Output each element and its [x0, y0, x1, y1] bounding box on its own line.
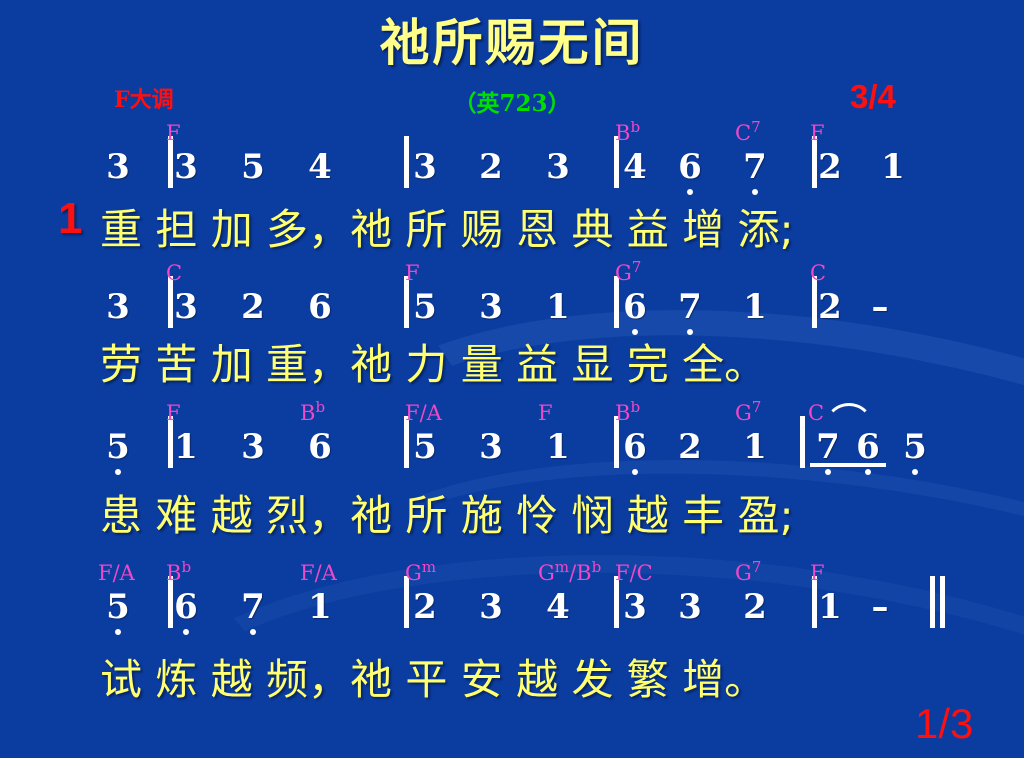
key-signature-label: F大调	[114, 82, 174, 114]
note: 2	[479, 150, 503, 184]
note: 6	[308, 290, 332, 324]
note: 1	[174, 430, 198, 464]
chord-symbol: F/A	[98, 563, 135, 584]
final-double-barline	[930, 576, 946, 628]
note-cell: 1	[877, 150, 909, 184]
note: 4	[546, 590, 570, 624]
note-cell: 2	[475, 150, 507, 184]
music-stave-2: 3C326F531G7671C2–	[0, 252, 1024, 324]
note: 5	[106, 430, 130, 464]
chord-symbol: F	[538, 403, 553, 424]
note: 2	[413, 590, 437, 624]
note-cell: 6	[674, 150, 706, 184]
lyric-text: 劳 苦 加 重，祂 力 量 益 显 完 全。	[100, 331, 766, 392]
note: 2	[241, 290, 265, 324]
lyric-text: 试 炼 越 频，祂 平 安 越 发 繁 增。	[100, 646, 766, 707]
chord-symbol: F/C	[615, 563, 653, 584]
note: 3	[174, 150, 198, 184]
note: 3	[106, 290, 130, 324]
note: 3	[479, 290, 503, 324]
chord-symbol: Bb	[615, 397, 640, 424]
note: 1	[881, 150, 905, 184]
beam	[810, 463, 886, 467]
barline	[800, 416, 805, 468]
note: 6	[678, 150, 702, 184]
note: 5	[413, 430, 437, 464]
note-cell: 3	[409, 150, 441, 184]
note: 3	[546, 150, 570, 184]
note: 1	[308, 590, 332, 624]
note-cell: G72	[739, 590, 771, 624]
chord-symbol: C7	[735, 117, 761, 144]
note-cell: 5	[237, 150, 269, 184]
note: 3	[413, 150, 437, 184]
note-cell: Gm/Bb4	[542, 590, 574, 624]
note-cell: –	[864, 290, 896, 324]
note: 6	[623, 290, 647, 324]
note-cell: Bb6	[170, 590, 202, 624]
chord-symbol: F/A	[300, 563, 337, 584]
note-cell: 1	[739, 290, 771, 324]
chord-symbol: F/A	[405, 403, 442, 424]
note-cell: 1	[542, 290, 574, 324]
chord-symbol: C	[808, 403, 824, 424]
note: 5	[903, 430, 927, 464]
note: 6	[308, 430, 332, 464]
note: 5	[413, 290, 437, 324]
note-cell: F5	[409, 290, 441, 324]
note-cell: C2	[814, 290, 846, 324]
note-cell: F/A5	[409, 430, 441, 464]
note: 1	[818, 590, 842, 624]
note-cell: F1	[542, 430, 574, 464]
note-cell: F1	[814, 590, 846, 624]
note-cell: 5	[102, 430, 134, 464]
note: 1	[743, 430, 767, 464]
note: 1	[546, 290, 570, 324]
chord-symbol: F	[405, 263, 420, 284]
beam-group	[810, 458, 886, 464]
music-stave-1: 3F354323Bb46C77F21	[0, 112, 1024, 184]
note: 3	[174, 290, 198, 324]
verse-number: 1	[58, 194, 82, 244]
note-cell: G71	[739, 430, 771, 464]
note-cell: F1	[170, 430, 202, 464]
chord-symbol: Bb	[166, 557, 191, 584]
note: –	[872, 590, 889, 624]
note-cell: 7	[674, 290, 706, 324]
note: 6	[174, 590, 198, 624]
page-indicator: 1/3	[915, 700, 973, 748]
note: 7	[743, 150, 767, 184]
note: 7	[678, 290, 702, 324]
note-cell: F3	[170, 150, 202, 184]
note-cell: 3	[102, 290, 134, 324]
note-cell: 4	[304, 150, 336, 184]
chord-symbol: Gm	[405, 557, 436, 584]
chord-symbol: G7	[735, 557, 761, 584]
chord-symbol: G7	[735, 397, 761, 424]
note-cell: C77	[739, 150, 771, 184]
note: 2	[743, 590, 767, 624]
note: 7	[241, 590, 265, 624]
note: 5	[241, 150, 265, 184]
note-cell: F/A5	[102, 590, 134, 624]
note: 3	[623, 590, 647, 624]
note: 3	[479, 590, 503, 624]
note: –	[872, 290, 889, 324]
chord-symbol: Gm/Bb	[538, 557, 601, 584]
note: 6	[623, 430, 647, 464]
note: 2	[818, 290, 842, 324]
note: 1	[743, 290, 767, 324]
note-cell: Bb4	[619, 150, 651, 184]
note: 3	[241, 430, 265, 464]
note: 2	[818, 150, 842, 184]
chord-symbol: C	[810, 263, 826, 284]
slur	[824, 403, 874, 428]
note-cell: C3	[170, 290, 202, 324]
note: 3	[479, 430, 503, 464]
note-cell: F/A1	[304, 590, 336, 624]
note-cell: 3	[475, 290, 507, 324]
hymn-title: 祂所赐无间	[0, 18, 1024, 68]
music-stave-4: F/A5Bb67F/A1Gm23Gm/Bb4F/C33G72F1–	[0, 552, 1024, 624]
note: 2	[678, 430, 702, 464]
note-cell: 6	[304, 290, 336, 324]
note-cell: Bb6	[619, 430, 651, 464]
chord-symbol: F	[166, 123, 181, 144]
note: 4	[623, 150, 647, 184]
chord-symbol: F	[166, 403, 181, 424]
note-cell: Gm2	[409, 590, 441, 624]
note-cell: 3	[237, 430, 269, 464]
note-cell: 3	[102, 150, 134, 184]
note-cell: 7	[237, 590, 269, 624]
note-cell: 3	[475, 590, 507, 624]
music-stave-3: 5F13Bb6F/A53F1Bb62G71C765	[0, 392, 1024, 464]
note: 1	[546, 430, 570, 464]
chord-symbol: Bb	[615, 117, 640, 144]
lyric-text: 患 难 越 烈，祂 所 施 怜 悯 越 丰 盈;	[100, 482, 794, 543]
note: 5	[106, 590, 130, 624]
note-cell: 2	[674, 430, 706, 464]
note-cell: 3	[475, 430, 507, 464]
note-cell: G76	[619, 290, 651, 324]
note: 3	[678, 590, 702, 624]
note: 4	[308, 150, 332, 184]
note-cell: 3	[542, 150, 574, 184]
decorative-swoosh	[102, 509, 1024, 758]
note-cell: F2	[814, 150, 846, 184]
chord-symbol: C	[166, 263, 182, 284]
note-cell: 3	[674, 590, 706, 624]
note-cell: F/C3	[619, 590, 651, 624]
lyric-text: 重 担 加 多，祂 所 赐 恩 典 益 增 添;	[100, 196, 794, 257]
note-cell: –	[864, 590, 896, 624]
chord-symbol: G7	[615, 257, 641, 284]
chord-symbol: F	[810, 123, 825, 144]
note-cell: Bb6	[304, 430, 336, 464]
hymn-slide: 祂所赐无间 （英723） F大调 3/4 1/3 3F354323Bb46C77…	[0, 0, 1024, 758]
time-signature-label: 3/4	[850, 78, 896, 116]
note-cell: 2	[237, 290, 269, 324]
note-cell: 5	[899, 430, 931, 464]
chord-symbol: F	[810, 563, 825, 584]
chord-symbol: Bb	[300, 397, 325, 424]
note: 3	[106, 150, 130, 184]
